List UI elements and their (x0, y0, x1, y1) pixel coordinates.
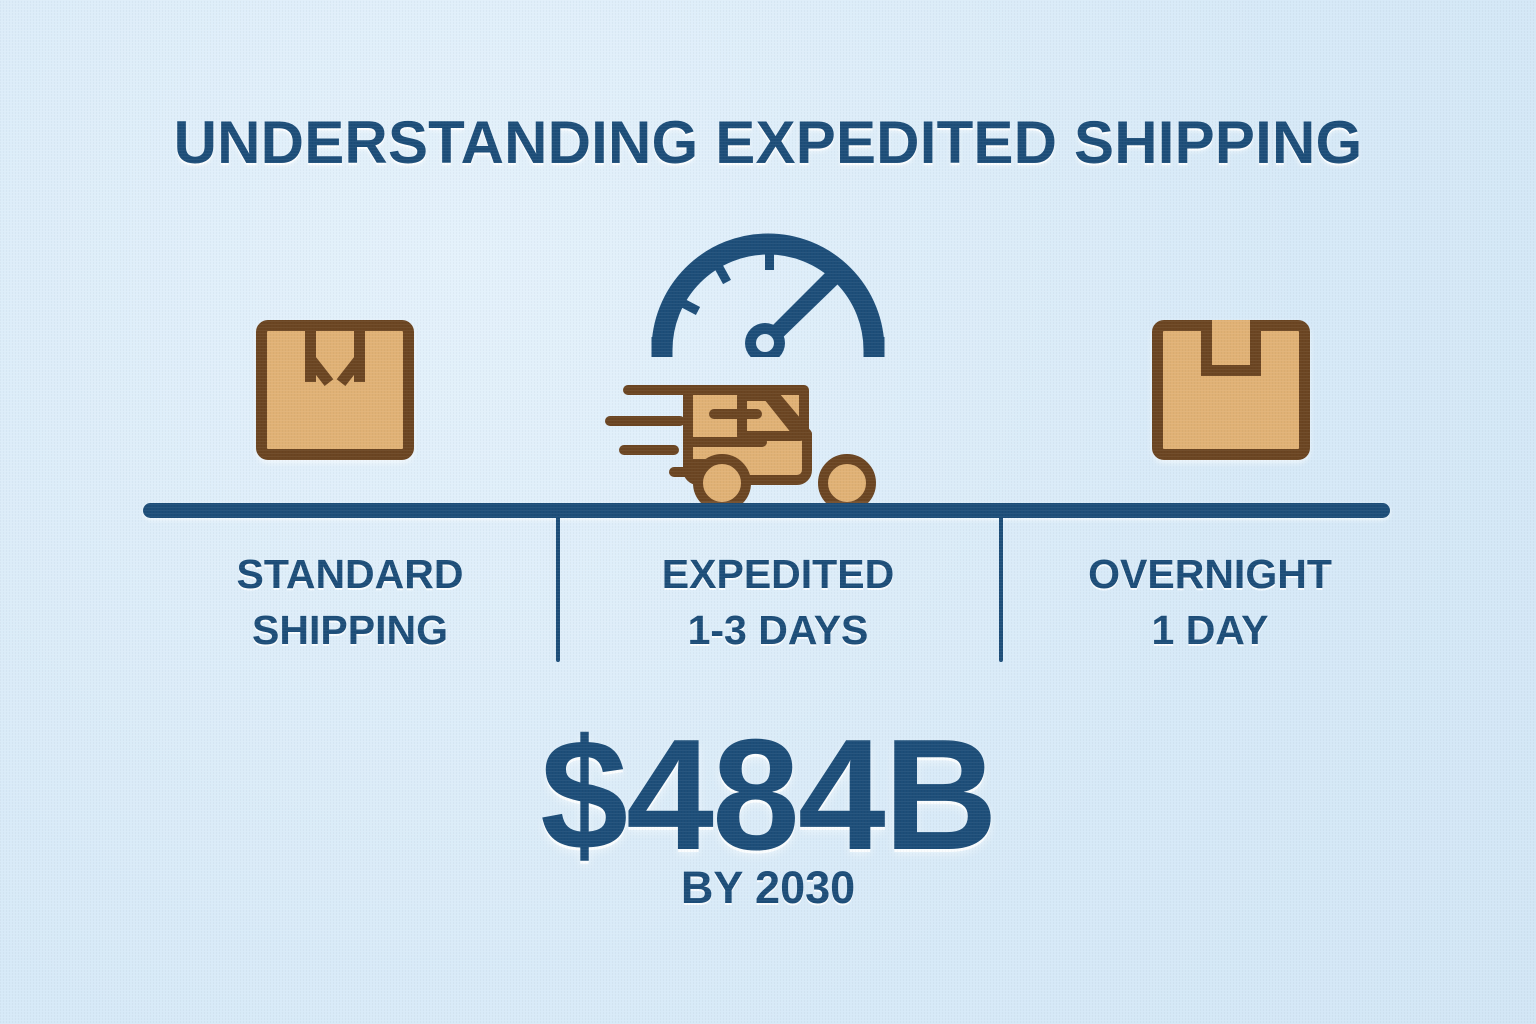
tier-standard-line2: SHIPPING (140, 602, 560, 658)
statistic-value: $484B (0, 716, 1536, 874)
page-title: UNDERSTANDING EXPEDITED SHIPPING (0, 108, 1536, 177)
speedometer-icon (648, 232, 888, 357)
tier-expedited-line2: 1-3 DAYS (560, 602, 996, 658)
box-tape (1201, 320, 1261, 376)
infographic-canvas: UNDERSTANDING EXPEDITED SHIPPING (0, 0, 1536, 1024)
tier-expedited-line1: EXPEDITED (560, 546, 996, 602)
tier-overnight-line1: OVERNIGHT (1000, 546, 1420, 602)
package-box-icon (1152, 320, 1310, 460)
tier-overnight: OVERNIGHT 1 DAY (1000, 546, 1420, 658)
tier-standard-line1: STANDARD (140, 546, 560, 602)
delivery-van-icon (602, 376, 912, 516)
tier-overnight-line2: 1 DAY (1000, 602, 1420, 658)
tier-standard: STANDARD SHIPPING (140, 546, 560, 658)
box-tape-ribbon (305, 320, 365, 382)
statistic-caption: BY 2030 (0, 862, 1536, 914)
speed-lines (610, 390, 694, 450)
timeline-bar (143, 503, 1390, 518)
package-box-ribbon-icon (256, 320, 414, 460)
tier-expedited: EXPEDITED 1-3 DAYS (560, 546, 996, 658)
